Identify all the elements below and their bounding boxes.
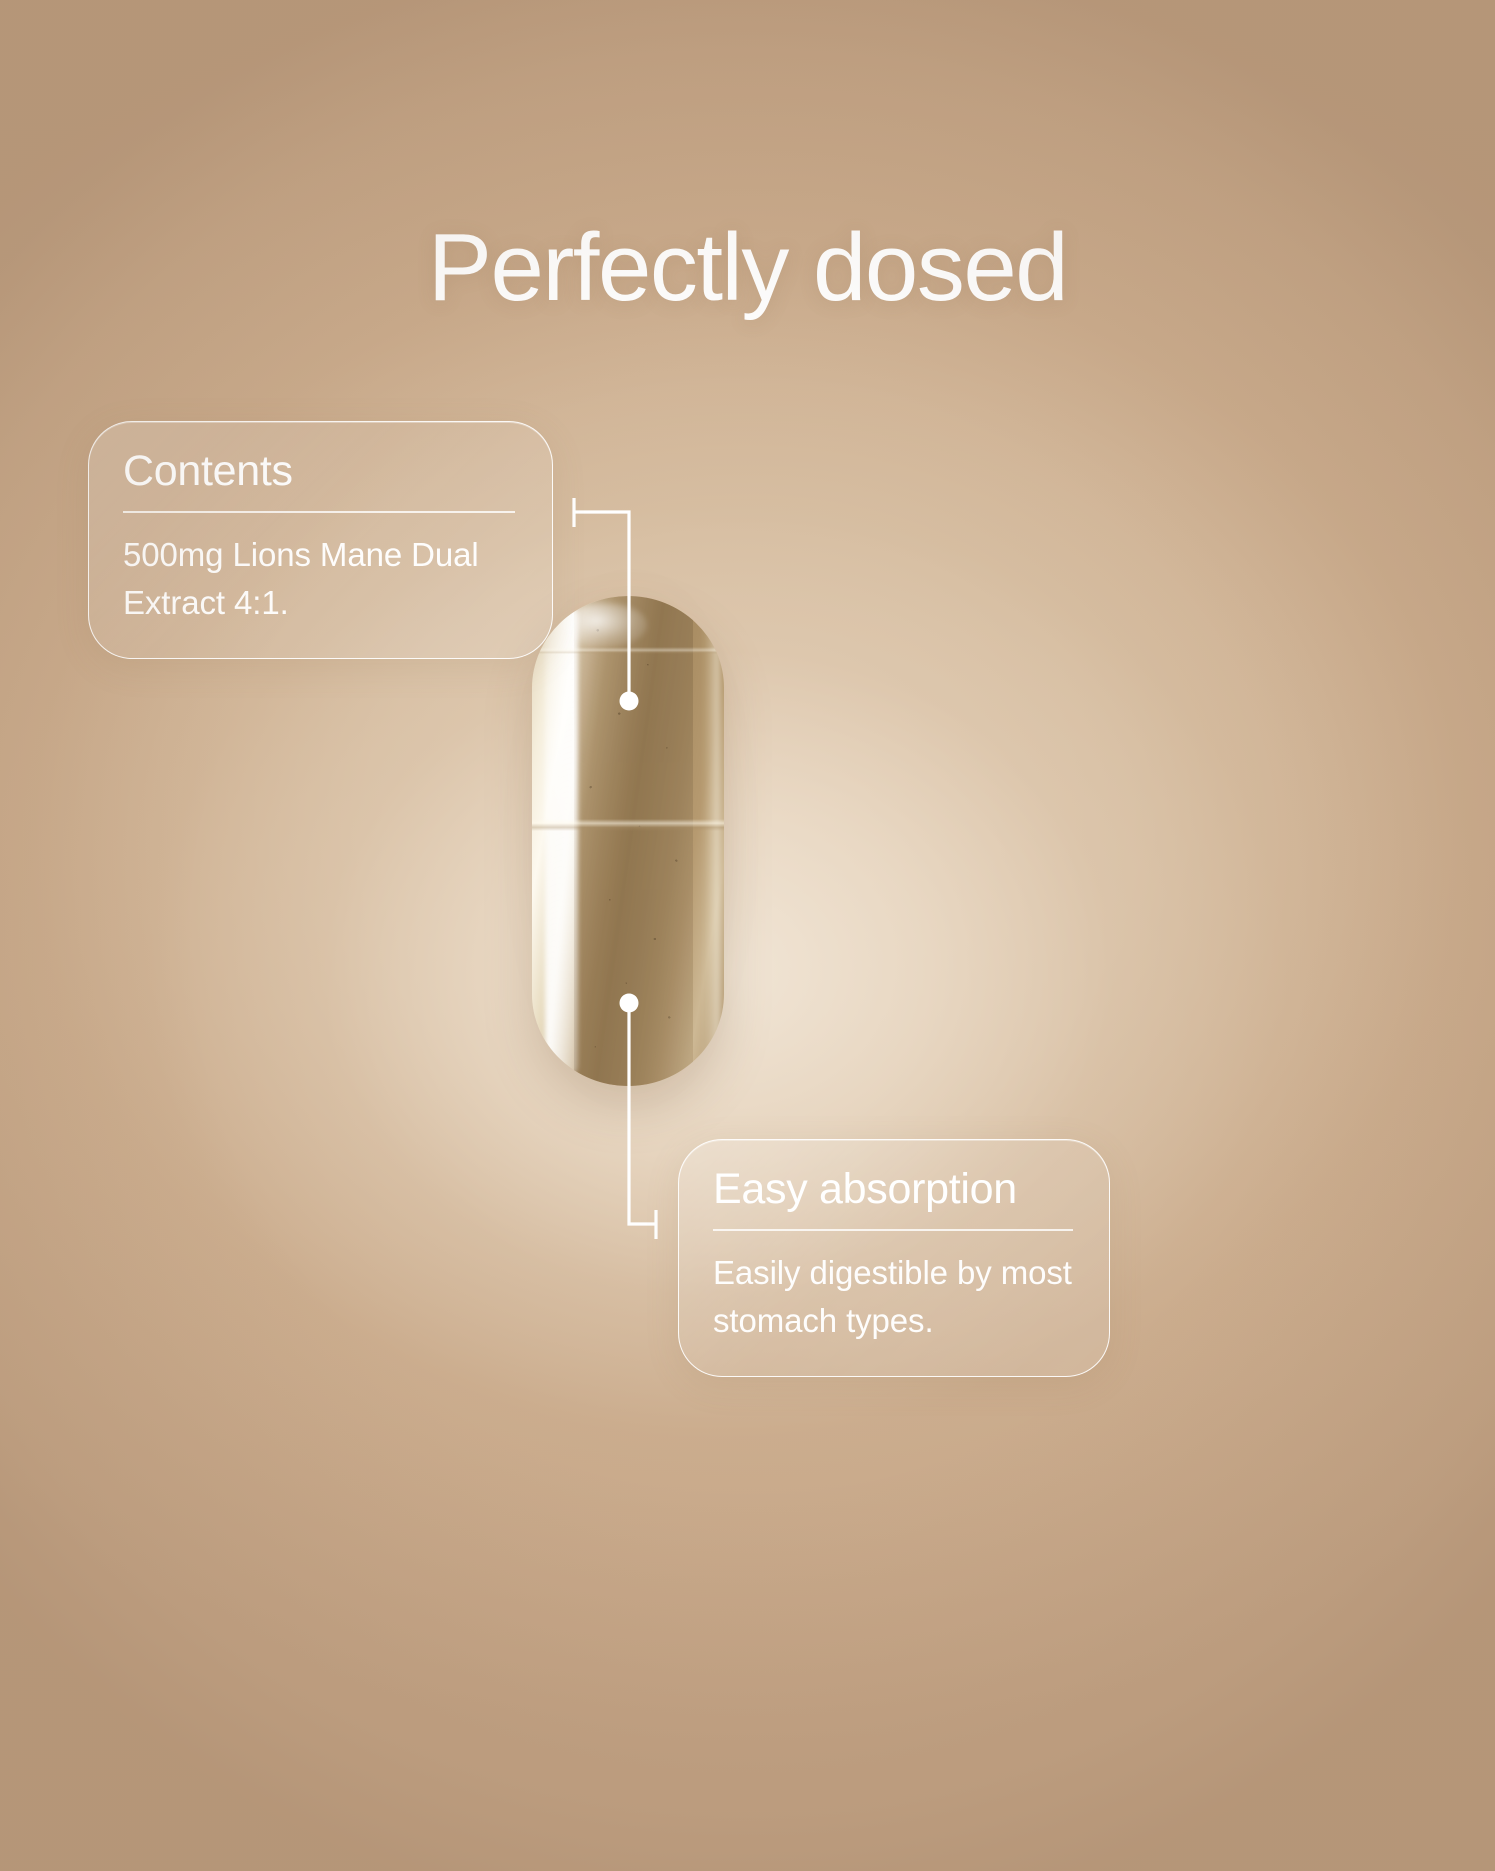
poster-canvas: Perfectly dosed Contents 500m bbox=[0, 0, 1495, 1871]
info-card-title: Easy absorption bbox=[713, 1166, 1075, 1213]
capsule-image bbox=[532, 596, 724, 1086]
divider bbox=[123, 511, 515, 513]
divider bbox=[713, 1229, 1073, 1231]
info-card-body: Easily digestible by most stomach types. bbox=[713, 1249, 1075, 1346]
capsule-highlight bbox=[545, 601, 578, 1081]
capsule-seam bbox=[532, 819, 724, 831]
info-card-contents: Contents 500mg Lions Mane Dual Extract 4… bbox=[88, 421, 553, 659]
capsule-rim-light bbox=[703, 606, 720, 1076]
info-card-easy-absorption: Easy absorption Easily digestible by mos… bbox=[678, 1139, 1110, 1377]
info-card-title: Contents bbox=[123, 448, 518, 495]
page-title: Perfectly dosed bbox=[0, 218, 1495, 318]
capsule-cap-edge bbox=[532, 647, 724, 654]
info-card-body: 500mg Lions Mane Dual Extract 4:1. bbox=[123, 531, 518, 628]
capsule-gloss bbox=[563, 603, 647, 647]
capsule-powder-fill bbox=[574, 596, 693, 1086]
capsule-shell bbox=[532, 596, 724, 1086]
